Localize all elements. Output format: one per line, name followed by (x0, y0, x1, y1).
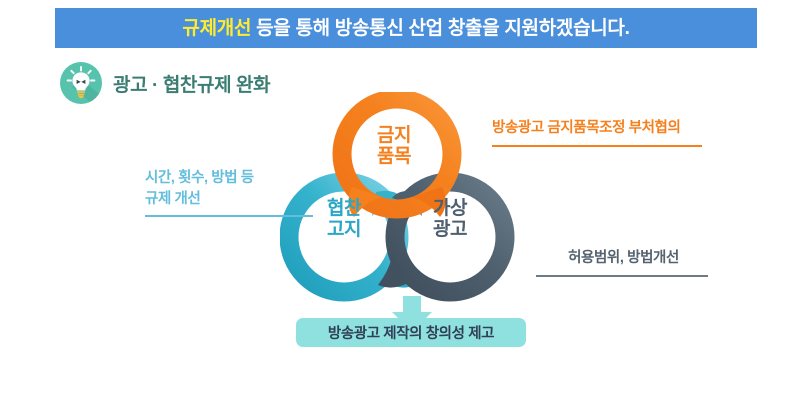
venn-label-virtual-advertising: 가상 광고 (411, 198, 489, 241)
callout-left-text: 시간, 횟수, 방법 등 규제 개선 (145, 168, 315, 210)
header-rest-text: 등을 통해 방송통신 산업 창출을 지원하겠습니다. (251, 18, 629, 39)
venn-label-sponsorship-notice: 협찬 고지 (305, 198, 383, 241)
venn-label-virtual-advertising-line2: 광고 (411, 219, 489, 240)
callout-left-line2: 규제 개선 (145, 189, 315, 210)
lightbulb-icon (60, 62, 102, 104)
section-heading: 광고 · 협찬규제 완화 (60, 62, 270, 104)
callout-left-rule (145, 215, 313, 217)
header-title: 규제개선 등을 통해 방송통신 산업 창출을 지원하겠습니다. (182, 19, 629, 38)
section-title: 광고 · 협찬규제 완화 (113, 70, 270, 97)
header-banner: 규제개선 등을 통해 방송통신 산업 창출을 지원하겠습니다. (55, 8, 757, 48)
venn-label-prohibited-items-line1: 금지 (355, 125, 433, 146)
callout-left: 시간, 횟수, 방법 등 규제 개선 (145, 168, 315, 217)
callout-right-bottom-rule (536, 275, 708, 277)
callout-right-top: 방송광고 금지품목조정 부처협의 (492, 118, 707, 147)
infographic-canvas: 규제개선 등을 통해 방송통신 산업 창출을 지원하겠습니다. (0, 0, 810, 401)
venn-label-sponsorship-notice-line2: 고지 (305, 219, 383, 240)
venn-label-virtual-advertising-line1: 가상 (411, 198, 489, 219)
callout-right-bottom: 허용범위, 방법개선 (536, 248, 711, 277)
callout-right-bottom-text: 허용범위, 방법개선 (536, 248, 711, 269)
callout-right-top-rule (492, 145, 702, 147)
venn-label-prohibited-items-line2: 품목 (355, 146, 433, 167)
result-box: 방송광고 제작의 창의성 제고 (296, 318, 526, 347)
result-text: 방송광고 제작의 창의성 제고 (328, 322, 494, 343)
callout-left-line1: 시간, 횟수, 방법 등 (145, 168, 315, 189)
header-highlight-text: 규제개선 (182, 18, 251, 39)
venn-label-sponsorship-notice-line1: 협찬 (305, 198, 383, 219)
callout-right-top-text: 방송광고 금지품목조정 부처협의 (492, 118, 707, 139)
venn-label-prohibited-items: 금지 품목 (355, 125, 433, 168)
